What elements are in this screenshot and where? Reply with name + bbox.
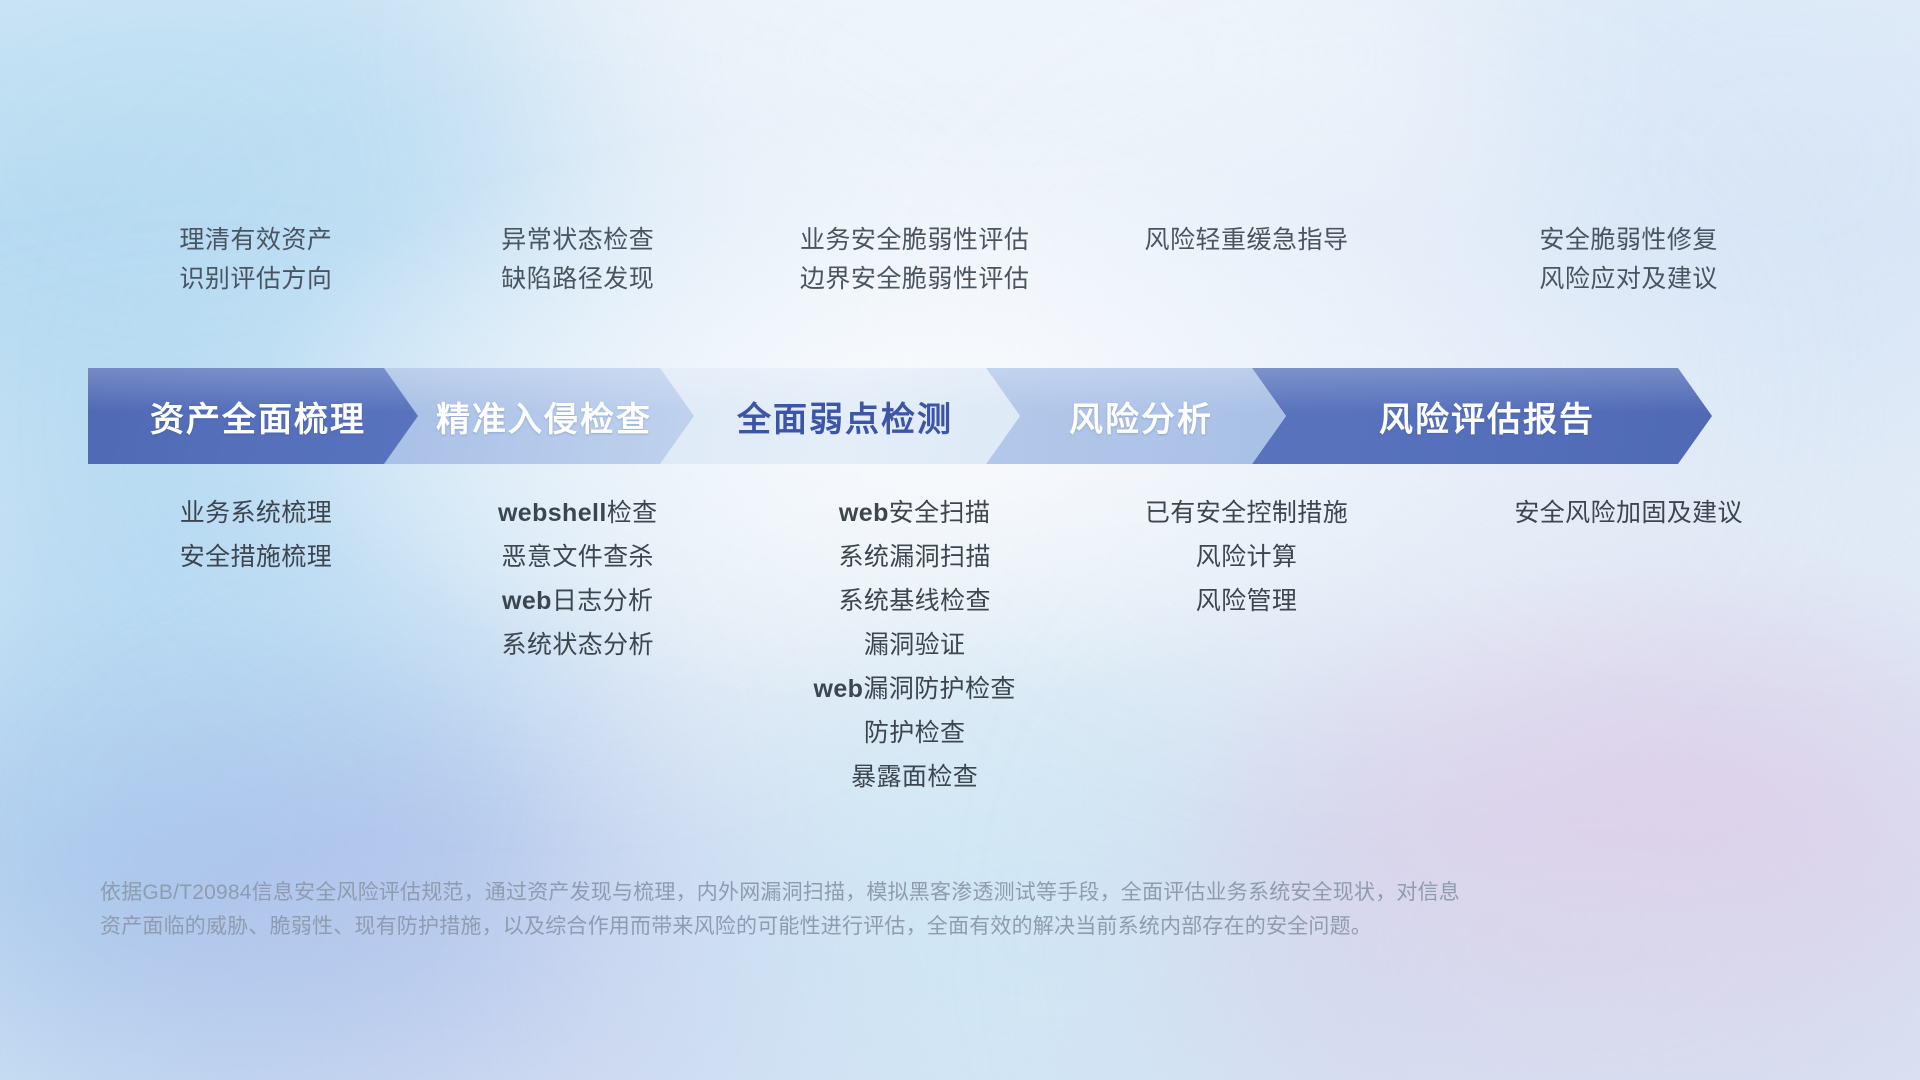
process-chevron-band: 资产全面梳理精准入侵检查全面弱点检测风险分析风险评估报告 [88,368,1848,464]
list-item: web漏洞防护检查 [814,676,1016,703]
slide-canvas: 理清有效资产识别评估方向异常状态检查缺陷路径发现业务安全脆弱性评估边界安全脆弱性… [0,0,1920,1080]
caption-line: 异常状态检查 [501,228,654,253]
caption-line: 风险应对及建议 [1539,267,1718,292]
list-item: 系统状态分析 [502,632,654,659]
footer-line-1: 依据GB/T20984信息安全风险评估规范，通过资产发现与梳理，内外网漏洞扫描，… [100,876,1620,910]
list-item: 业务系统梳理 [180,500,332,527]
list-item: 系统基线检查 [838,588,990,615]
chevron-step-intrusion-check[interactable]: 精准入侵检查 [384,368,694,464]
chevron-label: 资产全面梳理 [140,392,366,441]
chevron-label: 全面弱点检测 [727,392,953,441]
caption-line: 缺陷路径发现 [501,267,654,292]
list-item: web日志分析 [502,588,653,615]
detail-list-intrusion-check: webshell检查恶意文件查杀web日志分析系统状态分析 [422,500,734,659]
detail-list-asset-inventory: 业务系统梳理安全措施梳理 [90,500,422,571]
list-item: 暴露面检查 [851,764,978,791]
chevron-label: 风险分析 [1059,392,1213,441]
list-item: 系统漏洞扫描 [838,544,990,571]
list-item: web安全扫描 [839,500,990,527]
detail-list-risk-analysis: 已有安全控制措施风险计算风险管理 [1096,500,1398,615]
list-item: 防护检查 [864,720,966,747]
list-item: 安全措施梳理 [180,544,332,571]
caption-line: 理清有效资产 [179,228,332,253]
list-item: 已有安全控制措施 [1145,500,1348,527]
caption-col-risk-report: 安全脆弱性修复风险应对及建议 [1397,228,1860,292]
footer-line-2: 资产面临的威胁、脆弱性、现有防护措施，以及综合作用而带来风险的可能性进行评估，全… [100,910,1620,944]
list-item: 安全风险加固及建议 [1514,500,1743,527]
caption-col-intrusion-check: 异常状态检查缺陷路径发现 [422,228,734,292]
chevron-step-risk-report[interactable]: 风险评估报告 [1252,368,1712,464]
caption-col-weakness-detection: 业务安全脆弱性评估边界安全脆弱性评估 [734,228,1096,292]
list-item: webshell检查 [498,500,658,527]
caption-line: 风险轻重缓急指导 [1145,228,1349,253]
caption-col-asset-inventory: 理清有效资产识别评估方向 [90,228,422,292]
caption-line: 识别评估方向 [179,267,332,292]
chevron-step-risk-analysis[interactable]: 风险分析 [986,368,1286,464]
list-item: 风险计算 [1196,544,1298,571]
diagram-stage: 理清有效资产识别评估方向异常状态检查缺陷路径发现业务安全脆弱性评估边界安全脆弱性… [0,0,1920,1080]
list-item: 风险管理 [1196,588,1298,615]
chevron-step-weakness-detection[interactable]: 全面弱点检测 [660,368,1020,464]
chevron-step-asset-inventory[interactable]: 资产全面梳理 [88,368,418,464]
caption-row: 理清有效资产识别评估方向异常状态检查缺陷路径发现业务安全脆弱性评估边界安全脆弱性… [90,228,1860,292]
list-item: 漏洞验证 [864,632,966,659]
caption-line: 边界安全脆弱性评估 [800,267,1030,292]
detail-list-weakness-detection: web安全扫描系统漏洞扫描系统基线检查漏洞验证web漏洞防护检查防护检查暴露面检… [734,500,1096,791]
chevron-label: 精准入侵检查 [426,392,652,441]
footer-description: 依据GB/T20984信息安全风险评估规范，通过资产发现与梳理，内外网漏洞扫描，… [100,876,1620,944]
detail-list-row: 业务系统梳理安全措施梳理webshell检查恶意文件查杀web日志分析系统状态分… [90,500,1860,791]
caption-line: 安全脆弱性修复 [1539,228,1718,253]
list-item: 恶意文件查杀 [502,544,654,571]
chevron-label: 风险评估报告 [1369,392,1595,441]
caption-line: 业务安全脆弱性评估 [800,228,1030,253]
detail-list-risk-report: 安全风险加固及建议 [1397,500,1860,527]
caption-col-risk-analysis: 风险轻重缓急指导 [1096,228,1398,292]
